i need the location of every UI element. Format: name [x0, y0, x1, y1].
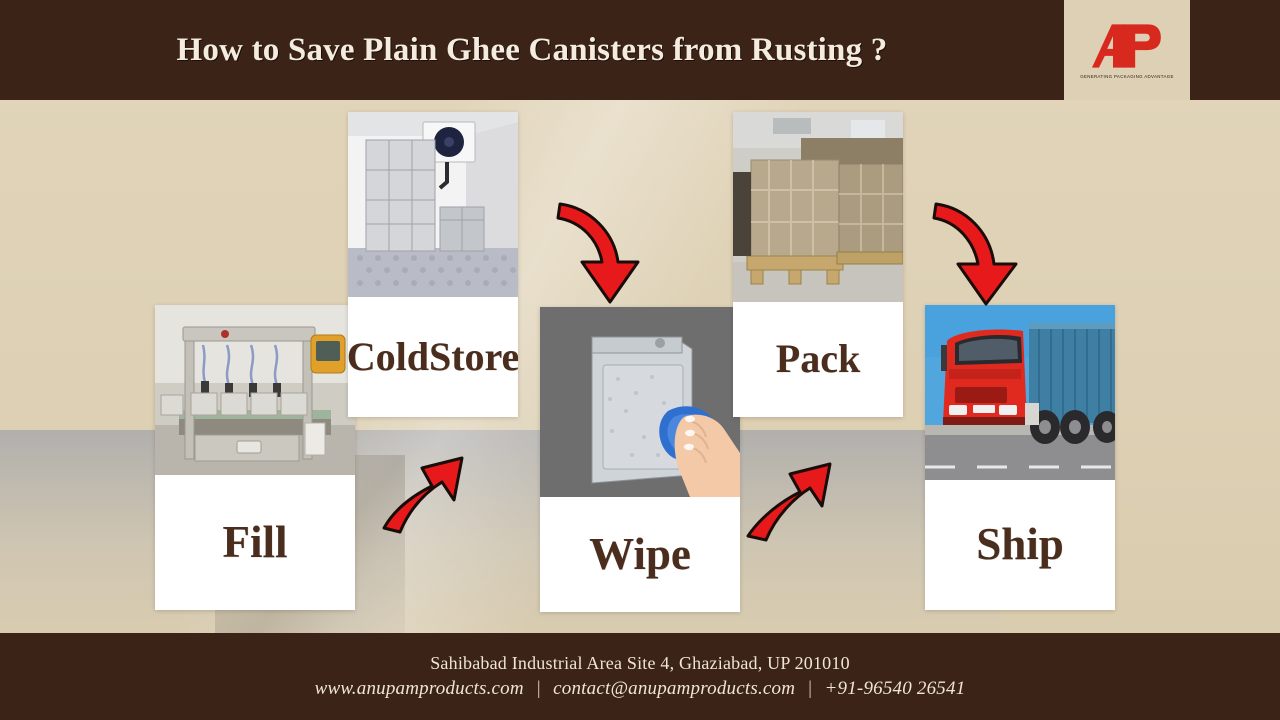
step-label-cold-line2: Store	[429, 337, 518, 378]
step-label-fill: Fill	[155, 475, 355, 610]
footer-website[interactable]: www.anupamproducts.com	[315, 678, 524, 699]
step-card-pack[interactable]: Pack	[733, 112, 903, 417]
header-bar: How to Save Plain Ghee Canisters from Ru…	[0, 0, 1280, 100]
footer-contact-line: www.anupamproducts.com | contact@anupamp…	[315, 678, 966, 700]
arrow-fill-to-cold-store	[378, 432, 488, 540]
logo-tagline: GENERATING PACKAGING ADVANTAGE	[1080, 74, 1174, 79]
footer-bar: Sahibabad Industrial Area Site 4, Ghazia…	[0, 633, 1280, 720]
step-image-ship	[925, 305, 1115, 480]
footer-phone[interactable]: +91-96540 26541	[825, 678, 966, 699]
step-card-fill[interactable]: Fill	[155, 305, 355, 610]
step-card-cold-store[interactable]: Cold Store	[348, 112, 518, 417]
arrow-pack-to-ship	[932, 192, 1046, 310]
step-image-cold-store	[348, 112, 518, 297]
footer-separator-1: |	[529, 678, 548, 699]
brand-logo[interactable]: GENERATING PACKAGING ADVANTAGE	[1064, 0, 1190, 100]
step-label-ship: Ship	[925, 480, 1115, 610]
step-label-pack: Pack	[733, 302, 903, 417]
step-label-wipe: Wipe	[540, 497, 740, 612]
ap-logo-icon	[1092, 21, 1162, 71]
infographic-slide: How to Save Plain Ghee Canisters from Ru…	[0, 0, 1280, 720]
footer-address: Sahibabad Industrial Area Site 4, Ghazia…	[430, 653, 850, 674]
step-card-wipe[interactable]: Wipe	[540, 307, 740, 612]
step-card-ship[interactable]: Ship	[925, 305, 1115, 610]
footer-email[interactable]: contact@anupamproducts.com	[553, 678, 795, 699]
step-label-cold-line1: Cold	[348, 337, 429, 378]
step-image-fill	[155, 305, 355, 475]
footer-separator-2: |	[800, 678, 819, 699]
step-label-cold-store: Cold Store	[348, 297, 518, 417]
arrow-wipe-to-pack	[742, 442, 858, 548]
step-image-wipe	[540, 307, 740, 497]
arrow-cold-store-to-wipe	[556, 192, 668, 308]
page-title: How to Save Plain Ghee Canisters from Ru…	[0, 0, 1064, 100]
step-image-pack	[733, 112, 903, 302]
